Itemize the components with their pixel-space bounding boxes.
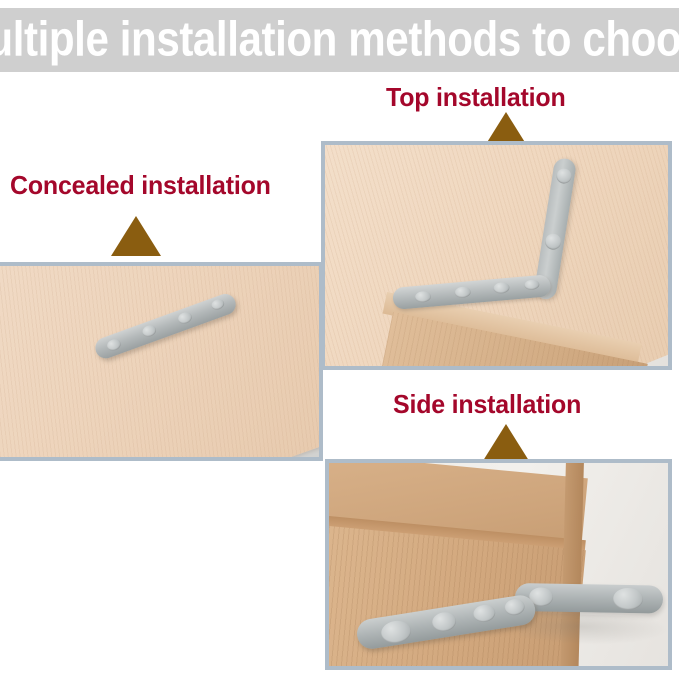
cabinet-top-surface	[0, 266, 319, 457]
photo-scene-concealed	[0, 266, 319, 457]
screw-cap-icon	[472, 603, 496, 623]
screw-cap-icon	[555, 168, 572, 185]
photo-scene-top	[325, 145, 668, 366]
screw-cap-icon	[431, 611, 458, 634]
infographic-root: Multiple installation methods to choose …	[0, 0, 679, 679]
screw-cap-icon	[105, 337, 122, 352]
screw-cap-icon	[380, 619, 413, 645]
screw-cap-icon	[454, 286, 471, 298]
bracket-wall-arm	[515, 583, 663, 614]
photo-panel-top	[321, 141, 672, 370]
screw-cap-icon	[503, 598, 525, 617]
photo-panel-side	[325, 459, 672, 670]
screw-cap-icon	[210, 298, 226, 312]
screw-cap-icon	[524, 279, 540, 290]
photo-panel-concealed	[0, 262, 323, 461]
screw-cap-icon	[141, 324, 158, 339]
photo-scene-side	[329, 463, 668, 666]
caption-top-installation: Top installation	[386, 82, 566, 112]
triangle-up-icon-side	[481, 424, 531, 464]
page-title: Multiple installation methods to choose	[0, 16, 679, 65]
bracket-shadow	[519, 612, 668, 647]
caption-concealed-installation: Concealed installation	[10, 170, 271, 200]
screw-cap-icon	[414, 291, 431, 303]
screw-cap-icon	[544, 233, 562, 251]
screw-cap-icon	[493, 282, 510, 294]
screw-cap-icon	[176, 311, 193, 326]
caption-side-installation: Side installation	[393, 389, 581, 419]
header-band: Multiple installation methods to choose	[0, 8, 679, 72]
triangle-up-icon-concealed	[111, 216, 161, 256]
screw-cap-icon	[613, 588, 643, 611]
